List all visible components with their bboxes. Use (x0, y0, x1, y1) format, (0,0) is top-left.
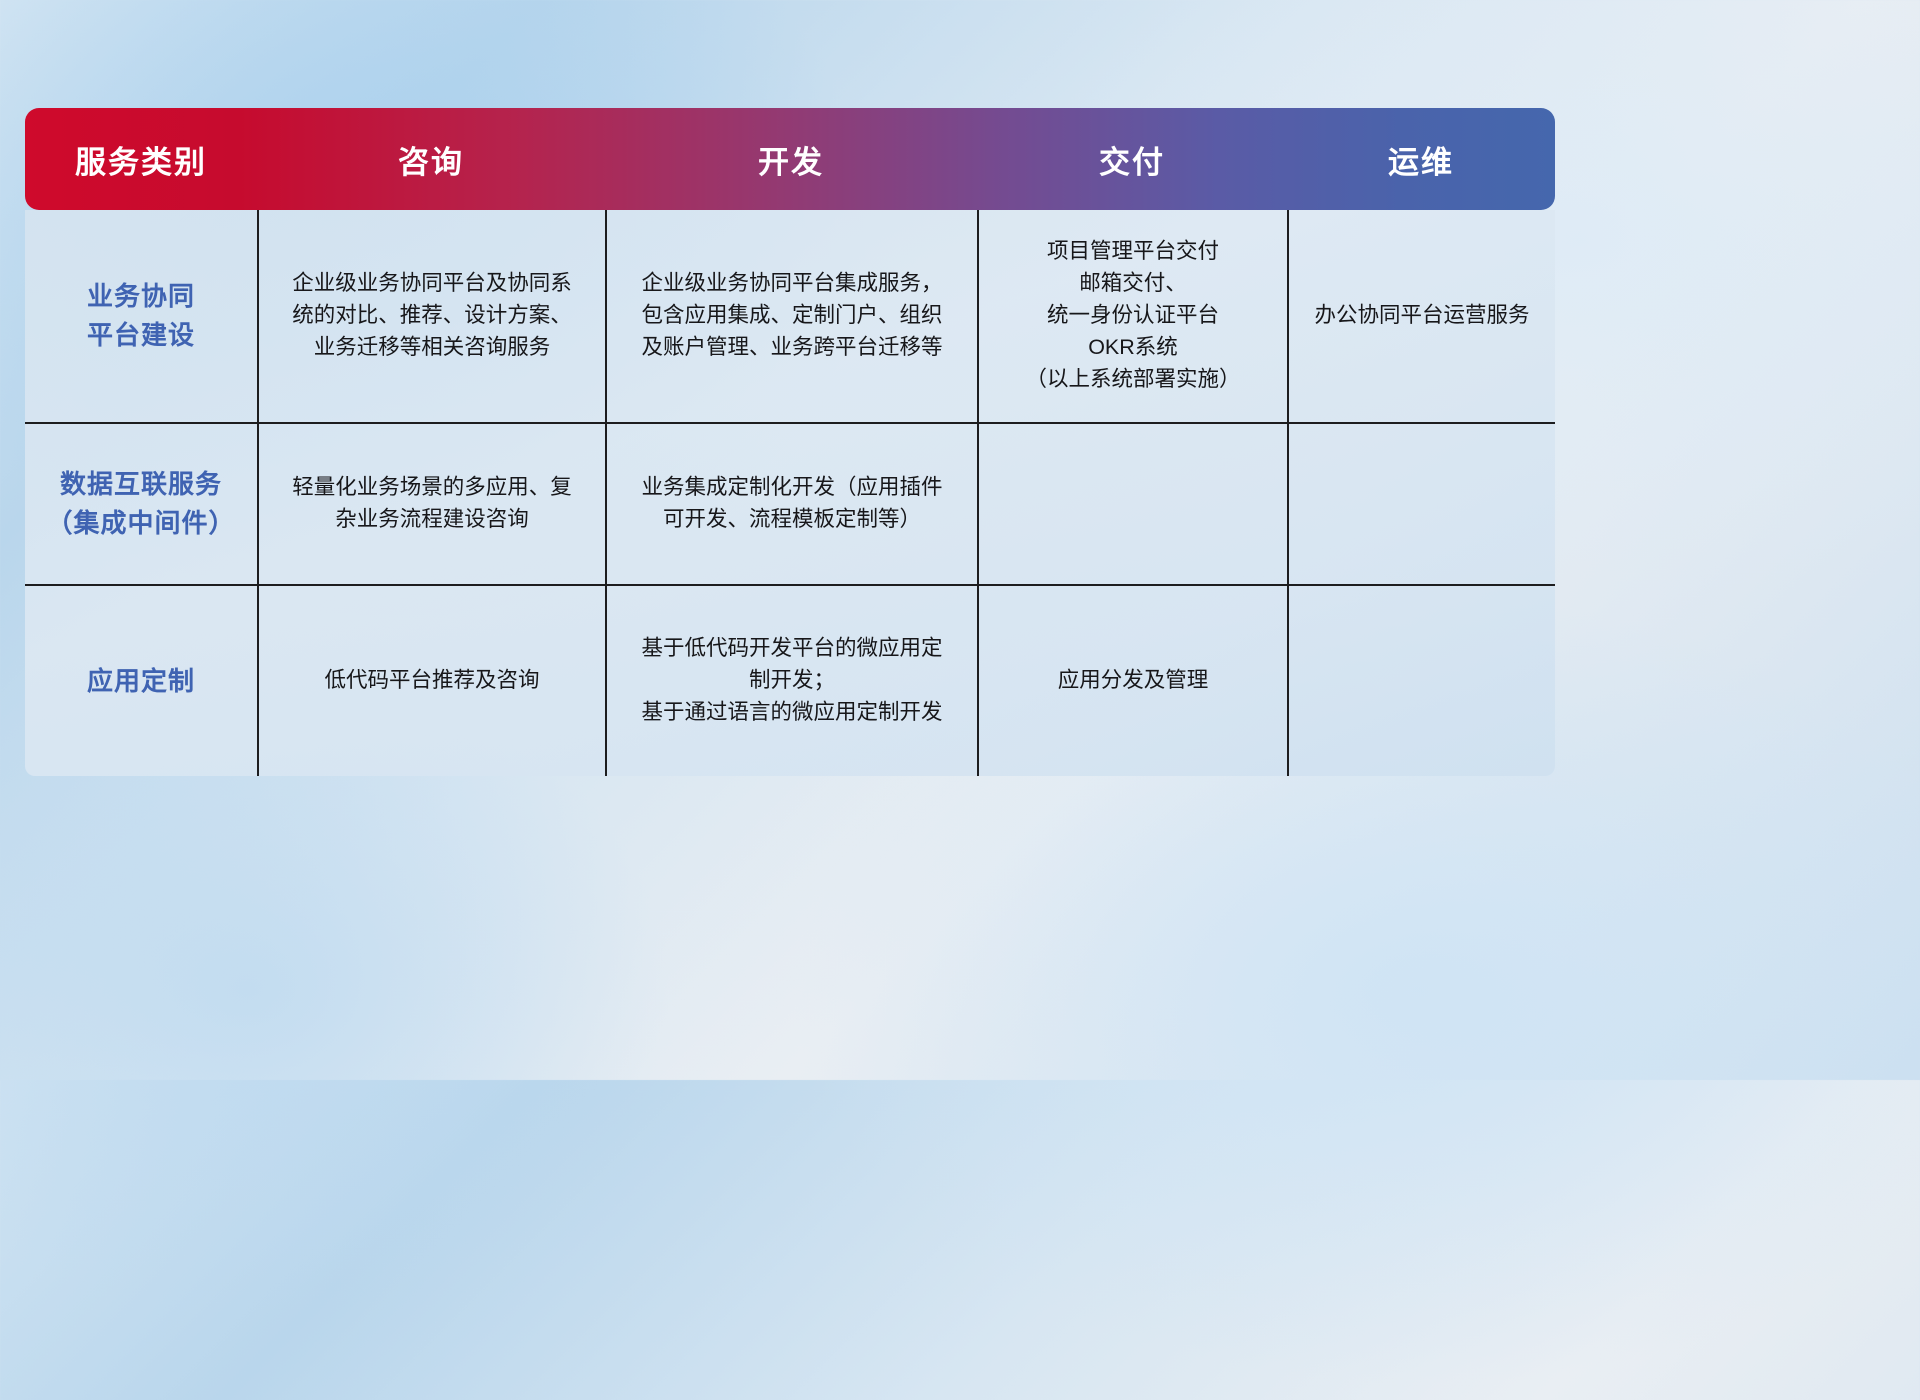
table-body: 业务协同 平台建设 企业级业务协同平台及协同系 统的对比、推荐、设计方案、 业务… (25, 210, 1555, 776)
table-header-row: 服务类别 咨询 开发 交付 运维 (25, 108, 1555, 210)
cell-development: 业务集成定制化开发（应用插件 可开发、流程模板定制等） (605, 424, 977, 584)
cell-operations (1287, 586, 1555, 776)
column-header-delivery: 交付 (977, 108, 1287, 210)
service-matrix-table: 服务类别 咨询 开发 交付 运维 业务协同 平台建设 企业级业务协同平台及协同系… (25, 108, 1555, 778)
column-header-operations-label: 运维 (1388, 137, 1454, 182)
column-header-category-label: 服务类别 (75, 137, 207, 182)
row-label-cell: 应用定制 (25, 586, 257, 776)
column-header-consulting-label: 咨询 (398, 137, 464, 182)
cell-consulting: 企业级业务协同平台及协同系 统的对比、推荐、设计方案、 业务迁移等相关咨询服务 (257, 210, 605, 422)
row-label-cell: 业务协同 平台建设 (25, 210, 257, 422)
column-header-delivery-label: 交付 (1099, 137, 1165, 182)
column-header-consulting: 咨询 (257, 108, 605, 210)
column-header-development-label: 开发 (758, 137, 824, 182)
cell-operations (1287, 424, 1555, 584)
cell-delivery: 应用分发及管理 (977, 586, 1287, 776)
cell-development: 基于低代码开发平台的微应用定 制开发； 基于通过语言的微应用定制开发 (605, 586, 977, 776)
table-row: 应用定制 低代码平台推荐及咨询 基于低代码开发平台的微应用定 制开发； 基于通过… (25, 584, 1555, 776)
column-header-category: 服务类别 (25, 108, 257, 210)
table-row: 数据互联服务 （集成中间件） 轻量化业务场景的多应用、复 杂业务流程建设咨询 业… (25, 422, 1555, 584)
row-label-cell: 数据互联服务 （集成中间件） (25, 424, 257, 584)
column-header-operations: 运维 (1287, 108, 1555, 210)
table-row: 业务协同 平台建设 企业级业务协同平台及协同系 统的对比、推荐、设计方案、 业务… (25, 210, 1555, 422)
cell-consulting: 轻量化业务场景的多应用、复 杂业务流程建设咨询 (257, 424, 605, 584)
cell-delivery: 项目管理平台交付 邮箱交付、 统一身份认证平台 OKR系统 （以上系统部署实施） (977, 210, 1287, 422)
cell-operations: 办公协同平台运营服务 (1287, 210, 1555, 422)
cell-delivery (977, 424, 1287, 584)
cell-development: 企业级业务协同平台集成服务， 包含应用集成、定制门户、组织 及账户管理、业务跨平… (605, 210, 977, 422)
column-header-development: 开发 (605, 108, 977, 210)
cell-consulting: 低代码平台推荐及咨询 (257, 586, 605, 776)
